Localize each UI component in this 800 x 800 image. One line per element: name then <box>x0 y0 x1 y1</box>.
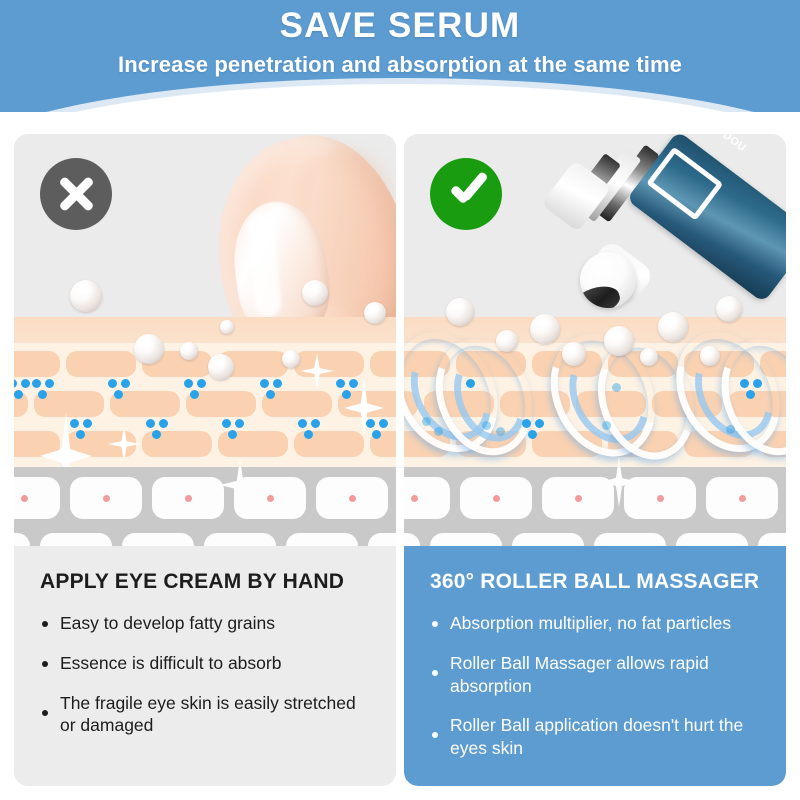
right-text-box: 360° ROLLER BALL MASSAGER Absorption mul… <box>404 546 786 786</box>
list-item: Roller Ball application doesn't hurt the… <box>426 714 764 760</box>
serum-pearl <box>180 342 198 360</box>
dermis-cell <box>706 477 778 519</box>
list-item: Roller Ball Massager allows rapid absorp… <box>426 652 764 698</box>
serum-pearl <box>604 326 634 356</box>
serum-pearl <box>716 296 742 322</box>
infographic-page: SAVE SERUM Increase penetration and abso… <box>0 0 800 800</box>
serum-molecule-cluster <box>298 419 324 443</box>
dermis-cell <box>460 477 532 519</box>
skin-cell-row <box>14 351 396 377</box>
serum-molecule-cluster <box>366 419 392 443</box>
serum-pearl <box>700 346 720 366</box>
skin-cross-section <box>14 317 396 549</box>
serum-pearl <box>530 314 560 344</box>
serum-pearl <box>134 334 164 364</box>
serum-molecule-cluster <box>32 379 58 403</box>
serum-molecule-cluster <box>260 379 286 403</box>
serum-pearl <box>208 354 234 380</box>
skin-cell <box>14 351 60 377</box>
serum-molecule-cluster <box>70 419 96 443</box>
serum-pearl <box>282 350 300 368</box>
dermis-cell <box>316 477 388 519</box>
left-bullet-list: Easy to develop fatty grains Essence is … <box>36 612 374 737</box>
dermis-layer <box>14 467 396 549</box>
skin-cell <box>66 351 136 377</box>
skin-cross-section <box>404 317 786 549</box>
dermis-cell <box>70 477 142 519</box>
right-illustration: DOU <box>404 134 786 549</box>
header-banner: SAVE SERUM Increase penetration and abso… <box>0 0 800 112</box>
panel-apply-by-hand: APPLY EYE CREAM BY HAND Easy to develop … <box>14 134 396 786</box>
dermis-layer <box>404 467 786 549</box>
list-item: Essence is difficult to absorb <box>36 652 374 675</box>
dermis-cell <box>14 477 60 519</box>
serum-molecule <box>422 417 431 426</box>
serum-molecule-cluster <box>336 379 362 403</box>
left-panel-title: APPLY EYE CREAM BY HAND <box>40 570 374 594</box>
bottle-label-text: DOU <box>720 134 748 154</box>
dermis-cell <box>152 477 224 519</box>
serum-molecule <box>496 427 505 436</box>
serum-pearl <box>496 330 518 352</box>
serum-pearl <box>302 280 328 306</box>
serum-pearl <box>446 298 474 326</box>
serum-pearl <box>220 320 234 334</box>
list-item: Absorption multiplier, no fat particles <box>426 612 764 635</box>
serum-molecule-cluster <box>740 379 766 403</box>
serum-molecule <box>602 421 611 430</box>
cross-mark-icon <box>40 158 112 230</box>
page-title: SAVE SERUM <box>0 6 800 46</box>
serum-pearl <box>70 280 102 312</box>
skin-cell <box>370 351 396 377</box>
right-bullet-list: Absorption multiplier, no fat particles … <box>426 612 764 760</box>
serum-pearl <box>658 312 688 342</box>
serum-molecule-cluster <box>184 379 210 403</box>
serum-pearl <box>562 342 586 366</box>
dermis-cell <box>542 477 614 519</box>
serum-molecule <box>612 383 621 392</box>
serum-molecule-cluster <box>146 419 172 443</box>
serum-molecule <box>466 379 475 388</box>
panel-roller-ball-massager: DOU <box>404 134 786 786</box>
epidermis-layer <box>14 317 396 343</box>
left-illustration <box>14 134 396 549</box>
list-item: The fragile eye skin is easily stretched… <box>36 692 374 738</box>
left-text-box: APPLY EYE CREAM BY HAND Easy to develop … <box>14 546 396 786</box>
cross-glyph <box>56 174 96 214</box>
serum-molecule-cluster <box>522 419 548 443</box>
check-glyph <box>445 173 487 215</box>
roller-ball-applicator <box>580 252 636 308</box>
serum-molecule <box>482 421 491 430</box>
right-panel-title: 360° ROLLER BALL MASSAGER <box>430 570 764 594</box>
serum-pearl <box>364 302 386 324</box>
dermis-cell <box>404 477 450 519</box>
serum-pearl <box>640 348 658 366</box>
page-subtitle: Increase penetration and absorption at t… <box>0 52 800 78</box>
serum-molecule-cluster <box>222 419 248 443</box>
serum-molecule-cluster <box>14 379 34 403</box>
list-item: Easy to develop fatty grains <box>36 612 374 635</box>
serum-molecule-cluster <box>108 379 134 403</box>
dermis-cell <box>624 477 696 519</box>
skin-cell <box>294 351 364 377</box>
serum-molecule <box>434 427 443 436</box>
serum-molecule <box>726 425 735 434</box>
dermis-cell <box>234 477 306 519</box>
check-mark-icon <box>430 158 502 230</box>
